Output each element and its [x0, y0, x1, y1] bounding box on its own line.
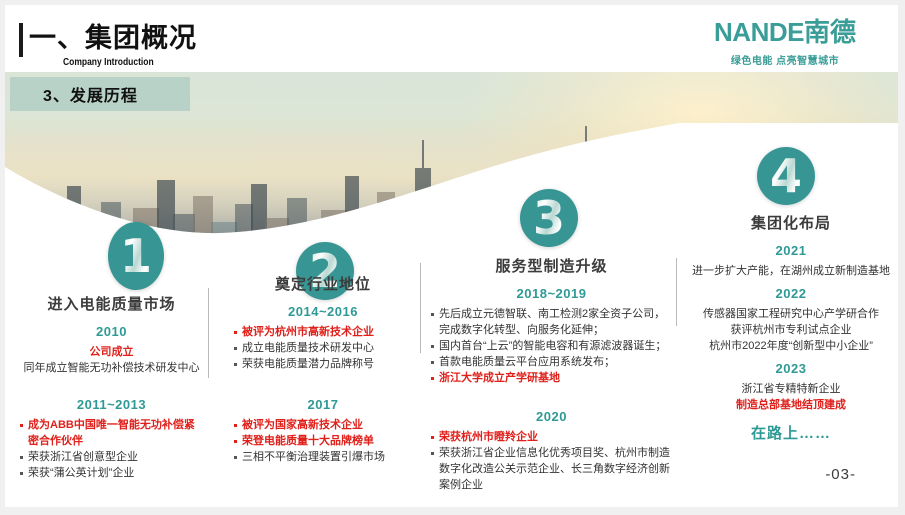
timeline-centered-text: 同年成立智能无功补偿技术研发中心 — [19, 360, 204, 376]
section-tab: 3、发展历程 — [10, 77, 190, 111]
timeline-year: 2023 — [684, 361, 898, 376]
timeline-block: 2018~2019 先后成立元德智联、南工检测2家全资子公司，完成数字化转型、向… — [430, 286, 673, 386]
timeline-block: 2022 传感器国家工程研究中心产学研合作 获评杭州市专利试点企业 杭州市202… — [684, 286, 898, 354]
timeline-year: 2020 — [430, 409, 673, 424]
timeline-badge-1-number: 1 — [120, 233, 152, 279]
timeline-year: 2011~2013 — [19, 397, 204, 412]
logo-wordmark: NANDE南德 — [690, 17, 880, 47]
timeline-column-4-heading: 集团化布局 — [684, 212, 898, 233]
page-edge-bottom — [0, 507, 905, 515]
timeline-bullet-list: 先后成立元德智联、南工检测2家全资子公司，完成数字化转型、向服务化延伸； 国内首… — [430, 306, 673, 386]
page-title: 一、集团概况 — [29, 20, 197, 56]
timeline-column-2-heading: 奠定行业地位 — [233, 273, 413, 294]
timeline-badge-4[interactable]: 4 — [757, 147, 815, 205]
timeline-badge-3[interactable]: 3 — [520, 189, 578, 247]
timeline-column-1-heading: 进入电能质量市场 — [19, 293, 204, 314]
timeline-bullet: 成为ABB中国唯一智能无功补偿紧密合作伙伴 — [19, 417, 204, 449]
timeline-block: 2021 进一步扩大产能，在湖州成立新制造基地 — [684, 243, 898, 279]
timeline-bullet: 成立电能质量技术研发中心 — [233, 340, 413, 356]
timeline-block: 2010 公司成立 同年成立智能无功补偿技术研发中心 — [19, 324, 204, 376]
timeline-year: 2022 — [684, 286, 898, 301]
timeline-centered-text: 进一步扩大产能，在湖州成立新制造基地 — [684, 263, 898, 279]
timeline-bullet: 荣获浙江省创意型企业 — [19, 449, 204, 465]
timeline-column-4: 集团化布局 2021 进一步扩大产能，在湖州成立新制造基地 2022 传感器国家… — [684, 212, 898, 443]
timeline-centered-text: 获评杭州市专利试点企业 — [684, 322, 898, 338]
page-subtitle: Company Introduction — [63, 57, 154, 68]
timeline-bullet: 被评为杭州市高新技术企业 — [233, 324, 413, 340]
column-divider-3 — [676, 258, 677, 326]
timeline-centered-text: 传感器国家工程研究中心产学研合作 — [684, 306, 898, 322]
timeline-centered-text: 杭州市2022年度“创新型中小企业” — [684, 338, 898, 354]
column-divider-2 — [420, 263, 421, 353]
timeline-centered-text: 公司成立 — [19, 344, 204, 360]
timeline-bullet: 荣获电能质量潜力品牌称号 — [233, 356, 413, 372]
timeline-year: 2018~2019 — [430, 286, 673, 301]
timeline-bullet: 荣登电能质量十大品牌榜单 — [233, 433, 413, 449]
title-accent-bar — [19, 23, 23, 57]
timeline-bullet: 荣获浙江省企业信息化优秀项目奖、杭州市制造数字化改造公关示范企业、长三角数字经济… — [430, 445, 673, 493]
timeline-bullet-list: 成为ABB中国唯一智能无功补偿紧密合作伙伴 荣获浙江省创意型企业 荣获“蒲公英计… — [19, 417, 204, 481]
brand-logo: NANDE南德 绿色电能 点亮智慧城市 — [690, 17, 880, 67]
page-edge-right — [898, 0, 905, 515]
timeline-year: 2021 — [684, 243, 898, 258]
column-divider-1 — [208, 288, 209, 378]
timeline-year: 2017 — [233, 397, 413, 412]
timeline-bullet-list: 荣获杭州市瞪羚企业 荣获浙江省企业信息化优秀项目奖、杭州市制造数字化改造公关示范… — [430, 429, 673, 493]
slide-canvas: 一、集团概况 Company Introduction NANDE南德 绿色电能… — [0, 0, 905, 515]
timeline-year: 2010 — [19, 324, 204, 339]
logo-chinese: 南德 — [804, 17, 856, 47]
timeline-column-1: 进入电能质量市场 2010 公司成立 同年成立智能无功补偿技术研发中心 2011… — [19, 293, 204, 481]
timeline-block: 2011~2013 成为ABB中国唯一智能无功补偿紧密合作伙伴 荣获浙江省创意型… — [19, 397, 204, 481]
timeline-badge-4-number: 4 — [770, 153, 802, 199]
timeline-bullet-list: 被评为杭州市高新技术企业 成立电能质量技术研发中心 荣获电能质量潜力品牌称号 — [233, 324, 413, 372]
timeline-block: 2014~2016 被评为杭州市高新技术企业 成立电能质量技术研发中心 荣获电能… — [233, 304, 413, 372]
timeline-bullet: 三相不平衡治理装置引爆市场 — [233, 449, 413, 465]
logo-latin: NANDE — [714, 17, 804, 47]
section-tab-label: 3、发展历程 — [10, 82, 138, 106]
timeline-year: 2014~2016 — [233, 304, 413, 319]
timeline-column-2: 奠定行业地位 2014~2016 被评为杭州市高新技术企业 成立电能质量技术研发… — [233, 273, 413, 465]
logo-tagline: 绿色电能 点亮智慧城市 — [690, 52, 880, 67]
timeline-bullet: 荣获杭州市瞪羚企业 — [430, 429, 673, 445]
page-number: -03- — [825, 466, 856, 483]
timeline-bullet: 荣获“蒲公英计划”企业 — [19, 465, 204, 481]
timeline-column-3: 服务型制造升级 2018~2019 先后成立元德智联、南工检测2家全资子公司，完… — [430, 255, 673, 493]
timeline-bullet: 首款电能质量云平台应用系统发布； — [430, 354, 673, 370]
timeline-bullet: 国内首台“上云”的智能电容和有源滤波器诞生； — [430, 338, 673, 354]
timeline-centered-text: 浙江省专精特新企业 — [684, 381, 898, 397]
timeline-bullet: 浙江大学成立产学研基地 — [430, 370, 673, 386]
timeline-column-4-footer: 在路上…… — [684, 422, 898, 443]
slide-inner: 一、集团概况 Company Introduction NANDE南德 绿色电能… — [5, 5, 898, 507]
timeline-badge-1[interactable]: 1 — [108, 222, 164, 290]
timeline-bullet-list: 被评为国家高新技术企业 荣登电能质量十大品牌榜单 三相不平衡治理装置引爆市场 — [233, 417, 413, 465]
timeline-block: 2017 被评为国家高新技术企业 荣登电能质量十大品牌榜单 三相不平衡治理装置引… — [233, 397, 413, 465]
timeline-centered-text: 制造总部基地结顶建成 — [684, 397, 898, 413]
timeline-bullet: 先后成立元德智联、南工检测2家全资子公司，完成数字化转型、向服务化延伸； — [430, 306, 673, 338]
timeline-badge-3-number: 3 — [533, 195, 565, 241]
timeline-column-3-heading: 服务型制造升级 — [430, 255, 673, 276]
timeline-bullet: 被评为国家高新技术企业 — [233, 417, 413, 433]
timeline-block: 2020 荣获杭州市瞪羚企业 荣获浙江省企业信息化优秀项目奖、杭州市制造数字化改… — [430, 409, 673, 493]
timeline-block: 2023 浙江省专精特新企业 制造总部基地结顶建成 — [684, 361, 898, 413]
